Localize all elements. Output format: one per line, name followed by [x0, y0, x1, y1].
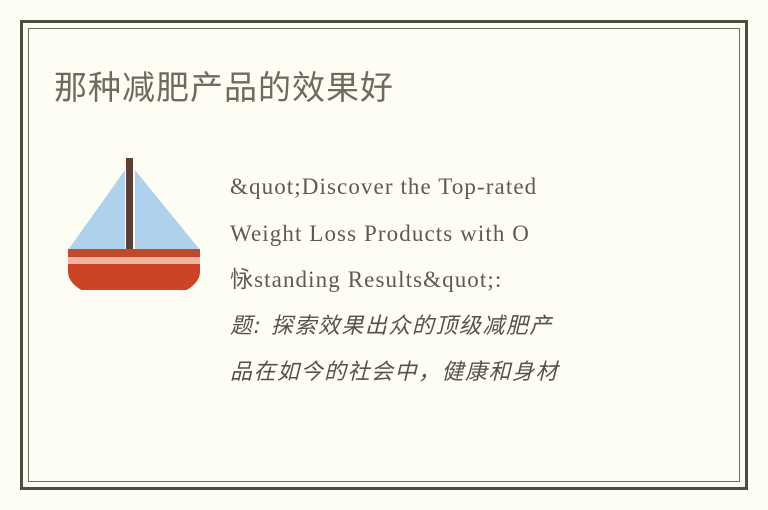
body-line: &quot;Discover the Top-rated	[230, 164, 660, 211]
page-title: 那种减肥产品的效果好	[54, 66, 394, 110]
sailboat-left-sail	[68, 170, 125, 250]
body-line: 品在如今的社会中，健康和身材	[230, 350, 660, 397]
body-text-block: &quot;Discover the Top-rated Weight Loss…	[230, 164, 660, 397]
sailboat-hull-top	[68, 249, 200, 257]
page-root: 那种减肥产品的效果好 &quot;Discover the Top-rated …	[0, 0, 768, 510]
sailboat-hull	[68, 264, 200, 290]
body-line: Weight Loss Products with O	[230, 211, 660, 258]
sailboat-mast	[126, 158, 133, 256]
body-line: 题: 探索效果出众的顶级减肥产	[230, 304, 660, 351]
sailboat-hull-stripe	[68, 257, 200, 264]
sailboat-right-sail	[135, 170, 200, 250]
sailboat-icon	[60, 150, 208, 290]
body-line: 怺standing Results&quot;:	[230, 257, 660, 304]
